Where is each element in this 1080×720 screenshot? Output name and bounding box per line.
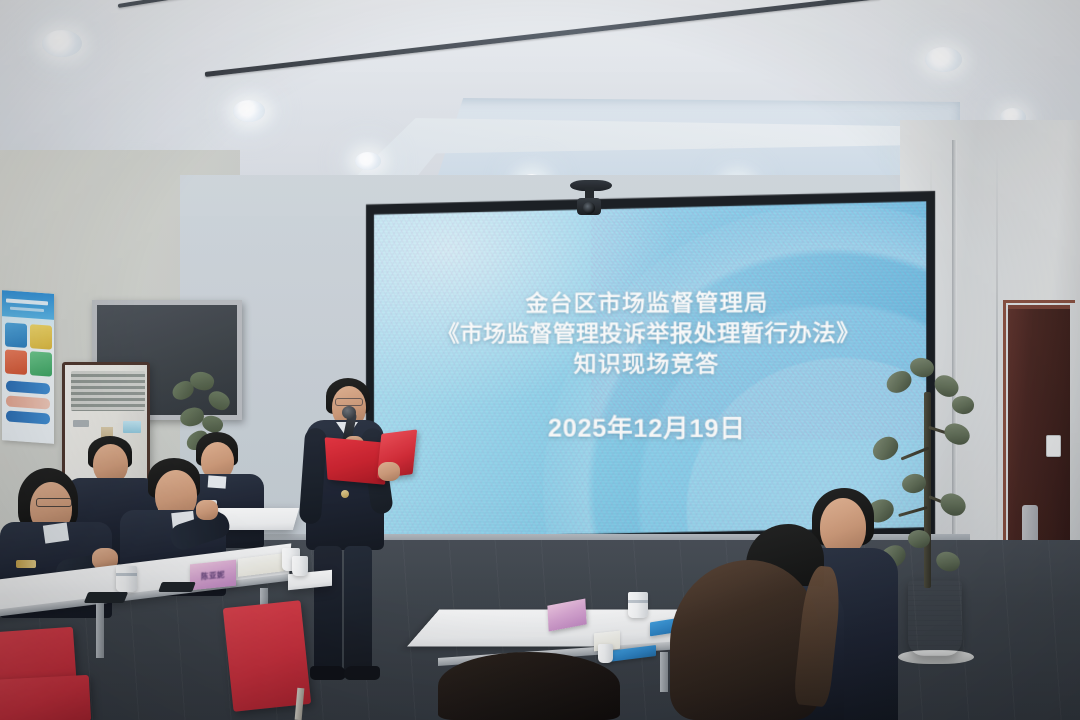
light-switch[interactable] <box>1046 435 1061 457</box>
paper-cup <box>628 592 648 618</box>
ac-energy-label <box>123 421 141 433</box>
wall-panel-seam <box>996 150 998 570</box>
camera-lens-icon <box>583 202 595 214</box>
ceiling-downlight <box>355 152 381 170</box>
chair[interactable] <box>0 675 91 720</box>
hand <box>196 500 218 520</box>
poster-bar <box>6 380 50 394</box>
uniform-button <box>341 490 349 498</box>
slide-line-2: 《市场监督管理投诉举报处理暂行办法》 <box>374 319 926 351</box>
shirt-collar <box>43 522 69 543</box>
slide-line-3: 知识现场竞答 <box>374 350 926 381</box>
paper-cup <box>116 566 137 592</box>
shoe <box>310 666 346 680</box>
hand <box>378 462 400 481</box>
meeting-room-photo: 金台区市场监督管理局 《市场监督管理投诉举报处理暂行办法》 知识现场竞答 202… <box>0 0 1080 720</box>
smartphone <box>158 582 196 592</box>
slide-line-1: 金台区市场监督管理局 <box>374 288 926 320</box>
eyeglasses-icon <box>335 398 363 406</box>
wall-infographic-poster <box>2 290 54 444</box>
poster-card <box>5 349 27 375</box>
poster-card <box>30 351 52 377</box>
eyeglasses-icon <box>36 498 72 507</box>
poster-card <box>30 324 52 350</box>
name-card-text: 陈亚妮 <box>190 560 236 591</box>
table-leg <box>660 652 668 692</box>
slide-title-block: 金台区市场监督管理局 《市场监督管理投诉举报处理暂行办法》 知识现场竞答 <box>374 288 926 381</box>
ceiling-downlight <box>925 47 962 72</box>
poster-bar <box>6 395 50 409</box>
name-card: 陈亚妮 <box>190 560 236 591</box>
ceiling-downlight <box>42 30 82 57</box>
hair-long <box>438 652 620 720</box>
poster-bar <box>6 410 50 424</box>
paper-cup <box>598 644 613 663</box>
poster-card <box>5 322 27 348</box>
legs <box>314 546 342 674</box>
slide-date: 2025年12月19日 <box>374 408 926 446</box>
cup-band <box>628 600 648 603</box>
smartphone <box>84 592 128 603</box>
cup-band <box>116 573 137 576</box>
microphone-head-icon <box>342 406 356 419</box>
legs <box>344 546 372 674</box>
shirt-collar <box>208 475 227 488</box>
plant-stem <box>924 392 931 588</box>
paper-cup <box>292 556 308 576</box>
rank-insignia <box>16 560 36 568</box>
ac-brand-badge <box>73 420 89 427</box>
ac-louvers <box>71 371 145 411</box>
ceiling-downlight <box>233 100 265 122</box>
shoe <box>344 666 380 680</box>
plant-pot <box>908 580 962 656</box>
water-bottle <box>1022 505 1038 545</box>
table-leg <box>96 600 104 658</box>
